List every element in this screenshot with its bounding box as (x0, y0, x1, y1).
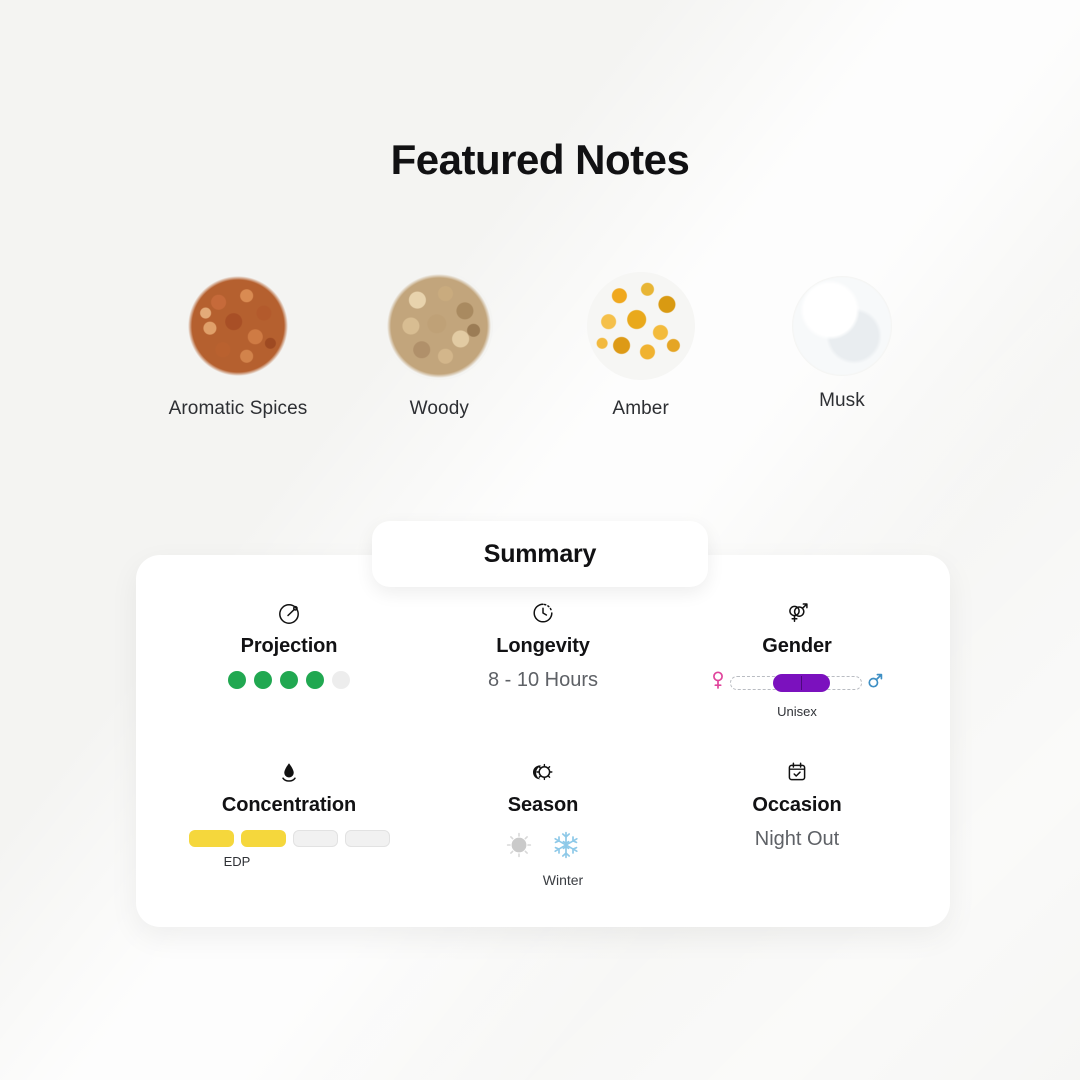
concentration-bar-empty (345, 830, 390, 847)
concentration-bars (189, 830, 390, 847)
season-options (504, 829, 582, 866)
wood-chips-image (385, 272, 493, 380)
metric-title: Occasion (752, 794, 841, 817)
projection-dot-filled (306, 671, 324, 689)
calendar-check-icon (785, 758, 809, 786)
sun-icon[interactable] (504, 830, 534, 865)
musk-ball-image (792, 276, 892, 376)
metric-title: Projection (241, 635, 338, 658)
metric-title: Season (508, 794, 579, 817)
note-item-musk[interactable]: Musk (754, 272, 930, 412)
gender-caption: Unisex (777, 704, 817, 719)
concentration-bar-filled (189, 830, 234, 847)
summary-pill: Summary (372, 521, 708, 587)
droplet-icon (277, 758, 301, 786)
snowflake-icon[interactable] (550, 829, 582, 866)
projection-dot-filled (228, 671, 246, 689)
metric-title: Longevity (496, 635, 590, 658)
metric-concentration: Concentration EDP (162, 750, 416, 901)
projection-dot-empty (332, 671, 350, 689)
gauge-icon (276, 599, 302, 627)
projection-rating-dots (228, 671, 350, 689)
amber-crystals-image (587, 272, 695, 380)
metric-projection: Projection (162, 599, 416, 750)
longevity-value: 8 - 10 Hours (488, 669, 598, 692)
summary-card: Projection Longevity 8 - 10 Hours (136, 555, 950, 927)
gender-slider[interactable] (711, 670, 883, 695)
summary-pill-label: Summary (484, 540, 597, 569)
season-caption: Winter (543, 872, 583, 888)
metric-occasion: Occasion Night Out (670, 750, 924, 901)
female-symbol-icon (711, 670, 725, 695)
metric-gender: Gender Unisex (670, 599, 924, 750)
metric-title: Gender (762, 635, 831, 658)
gender-slider-fill[interactable] (773, 674, 830, 692)
note-item-amber[interactable]: Amber (553, 272, 729, 420)
projection-dot-filled (254, 671, 272, 689)
projection-dot-filled (280, 671, 298, 689)
note-item-aromatic-spices[interactable]: Aromatic Spices (150, 272, 326, 420)
note-label: Amber (612, 398, 668, 420)
note-label: Aromatic Spices (169, 398, 308, 420)
sun-moon-icon (530, 758, 556, 786)
male-symbol-icon (867, 670, 883, 695)
metric-title: Concentration (222, 794, 356, 817)
concentration-bar-empty (293, 830, 338, 847)
concentration-caption: EDP (224, 854, 251, 869)
spice-flakes-image (184, 272, 292, 380)
metric-longevity: Longevity 8 - 10 Hours (416, 599, 670, 750)
gender-slider-track[interactable] (730, 676, 862, 690)
occasion-value: Night Out (755, 828, 839, 851)
note-item-woody[interactable]: Woody (351, 272, 527, 420)
concentration-bar-filled (241, 830, 286, 847)
note-label: Woody (410, 398, 469, 420)
page-title: Featured Notes (0, 136, 1080, 184)
note-label: Musk (819, 390, 865, 412)
page-root: Featured Notes Aromatic Spices Woody Amb… (0, 0, 1080, 1080)
metric-season: Season (416, 750, 670, 901)
clock-icon (530, 599, 556, 627)
featured-notes-row: Aromatic Spices Woody Amber Musk (150, 272, 930, 420)
gender-venus-mars-icon (783, 599, 811, 627)
